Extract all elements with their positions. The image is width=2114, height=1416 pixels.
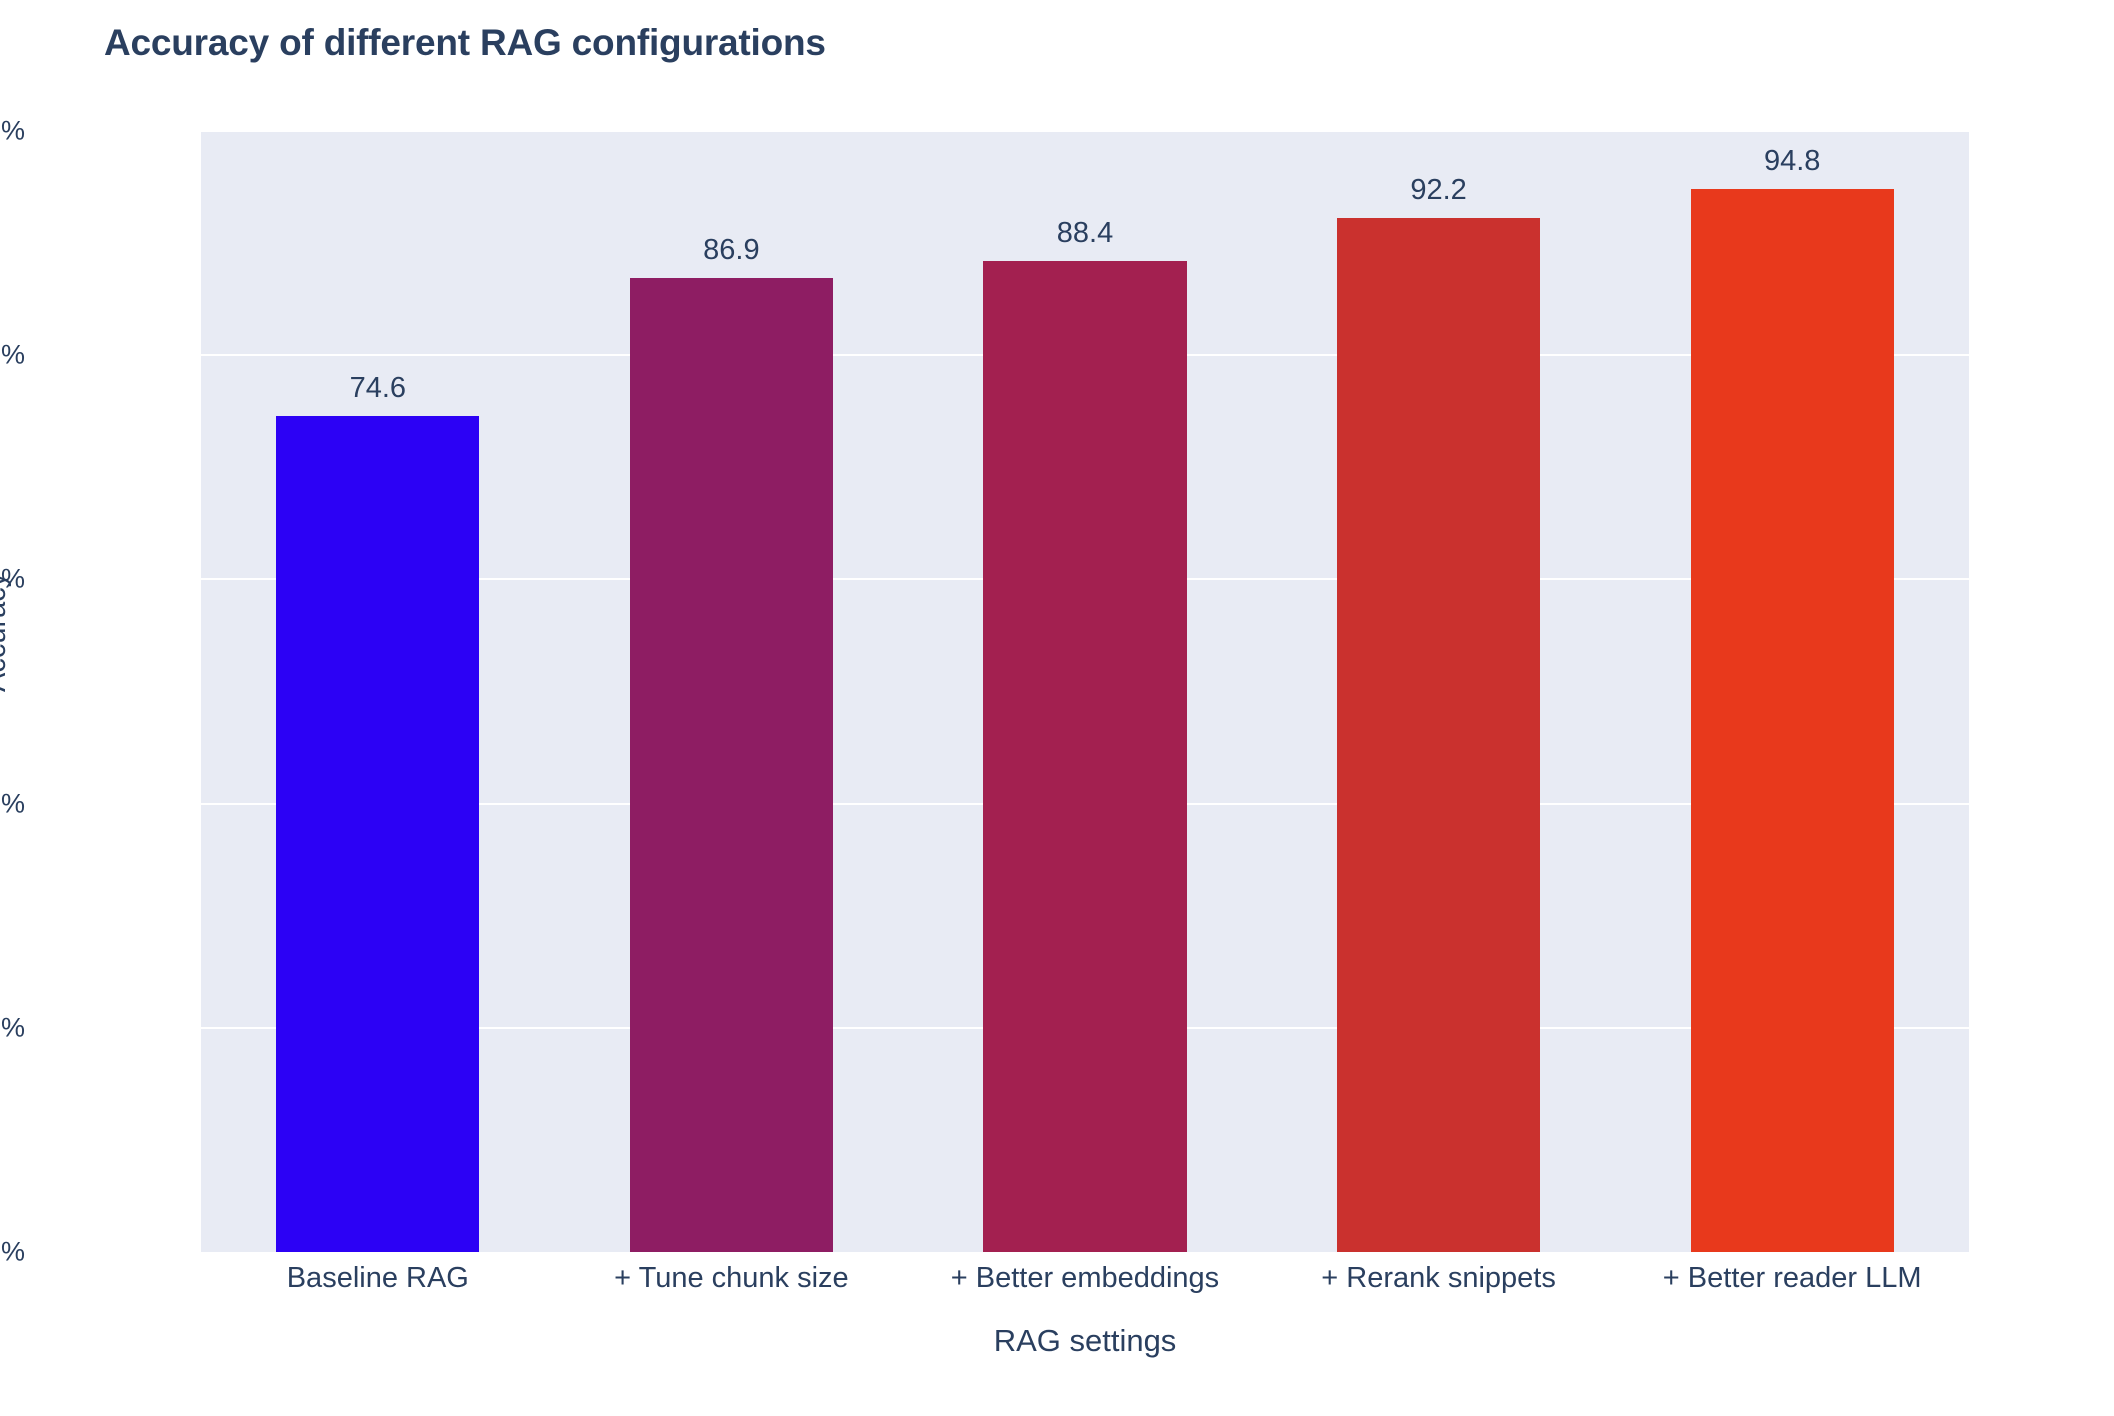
chart-figure: Accuracy of different RAG configurations… (0, 0, 2114, 1416)
x-axis-title: RAG settings (201, 1323, 1969, 1359)
y-axis-tick-label: 40% (0, 788, 25, 819)
bar[interactable]: 94.8 (1691, 189, 1894, 1252)
bar-slot: 94.8 (1615, 131, 1969, 1252)
y-axis-tick-label: 20% (0, 1012, 25, 1043)
x-axis-tick-label: + Rerank snippets (1262, 1262, 1616, 1295)
x-axis-tick-labels: Baseline RAG+ Tune chunk size+ Better em… (201, 1262, 1969, 1295)
plot-area: 74.686.988.492.294.8 (201, 131, 1969, 1252)
bar-slot: 88.4 (908, 131, 1262, 1252)
x-axis-tick-label: Baseline RAG (201, 1262, 555, 1295)
bar[interactable]: 74.6 (276, 416, 479, 1252)
bar-value-label: 92.2 (1410, 176, 1466, 205)
bar-value-label: 86.9 (703, 236, 759, 265)
y-axis-tick-label: 80% (0, 340, 25, 371)
bar-value-label: 74.6 (350, 374, 406, 403)
x-axis-tick-label: + Better reader LLM (1615, 1262, 1969, 1295)
bar-value-label: 88.4 (1057, 219, 1113, 248)
bar-value-label: 94.8 (1764, 147, 1820, 176)
bar[interactable]: 86.9 (630, 278, 833, 1252)
y-axis-tick-label: 100% (0, 116, 25, 147)
y-axis-tick-label: 60% (0, 564, 25, 595)
x-axis-tick-label: + Tune chunk size (555, 1262, 909, 1295)
bar-slot: 86.9 (555, 131, 909, 1252)
bar-series: 74.686.988.492.294.8 (201, 131, 1969, 1252)
bar[interactable]: 88.4 (983, 261, 1186, 1252)
bar-slot: 74.6 (201, 131, 555, 1252)
x-axis-tick-label: + Better embeddings (908, 1262, 1262, 1295)
chart-title: Accuracy of different RAG configurations (104, 22, 826, 64)
bar-slot: 92.2 (1262, 131, 1616, 1252)
y-axis-tick-label: 0% (0, 1237, 25, 1268)
bar[interactable]: 92.2 (1337, 218, 1540, 1252)
